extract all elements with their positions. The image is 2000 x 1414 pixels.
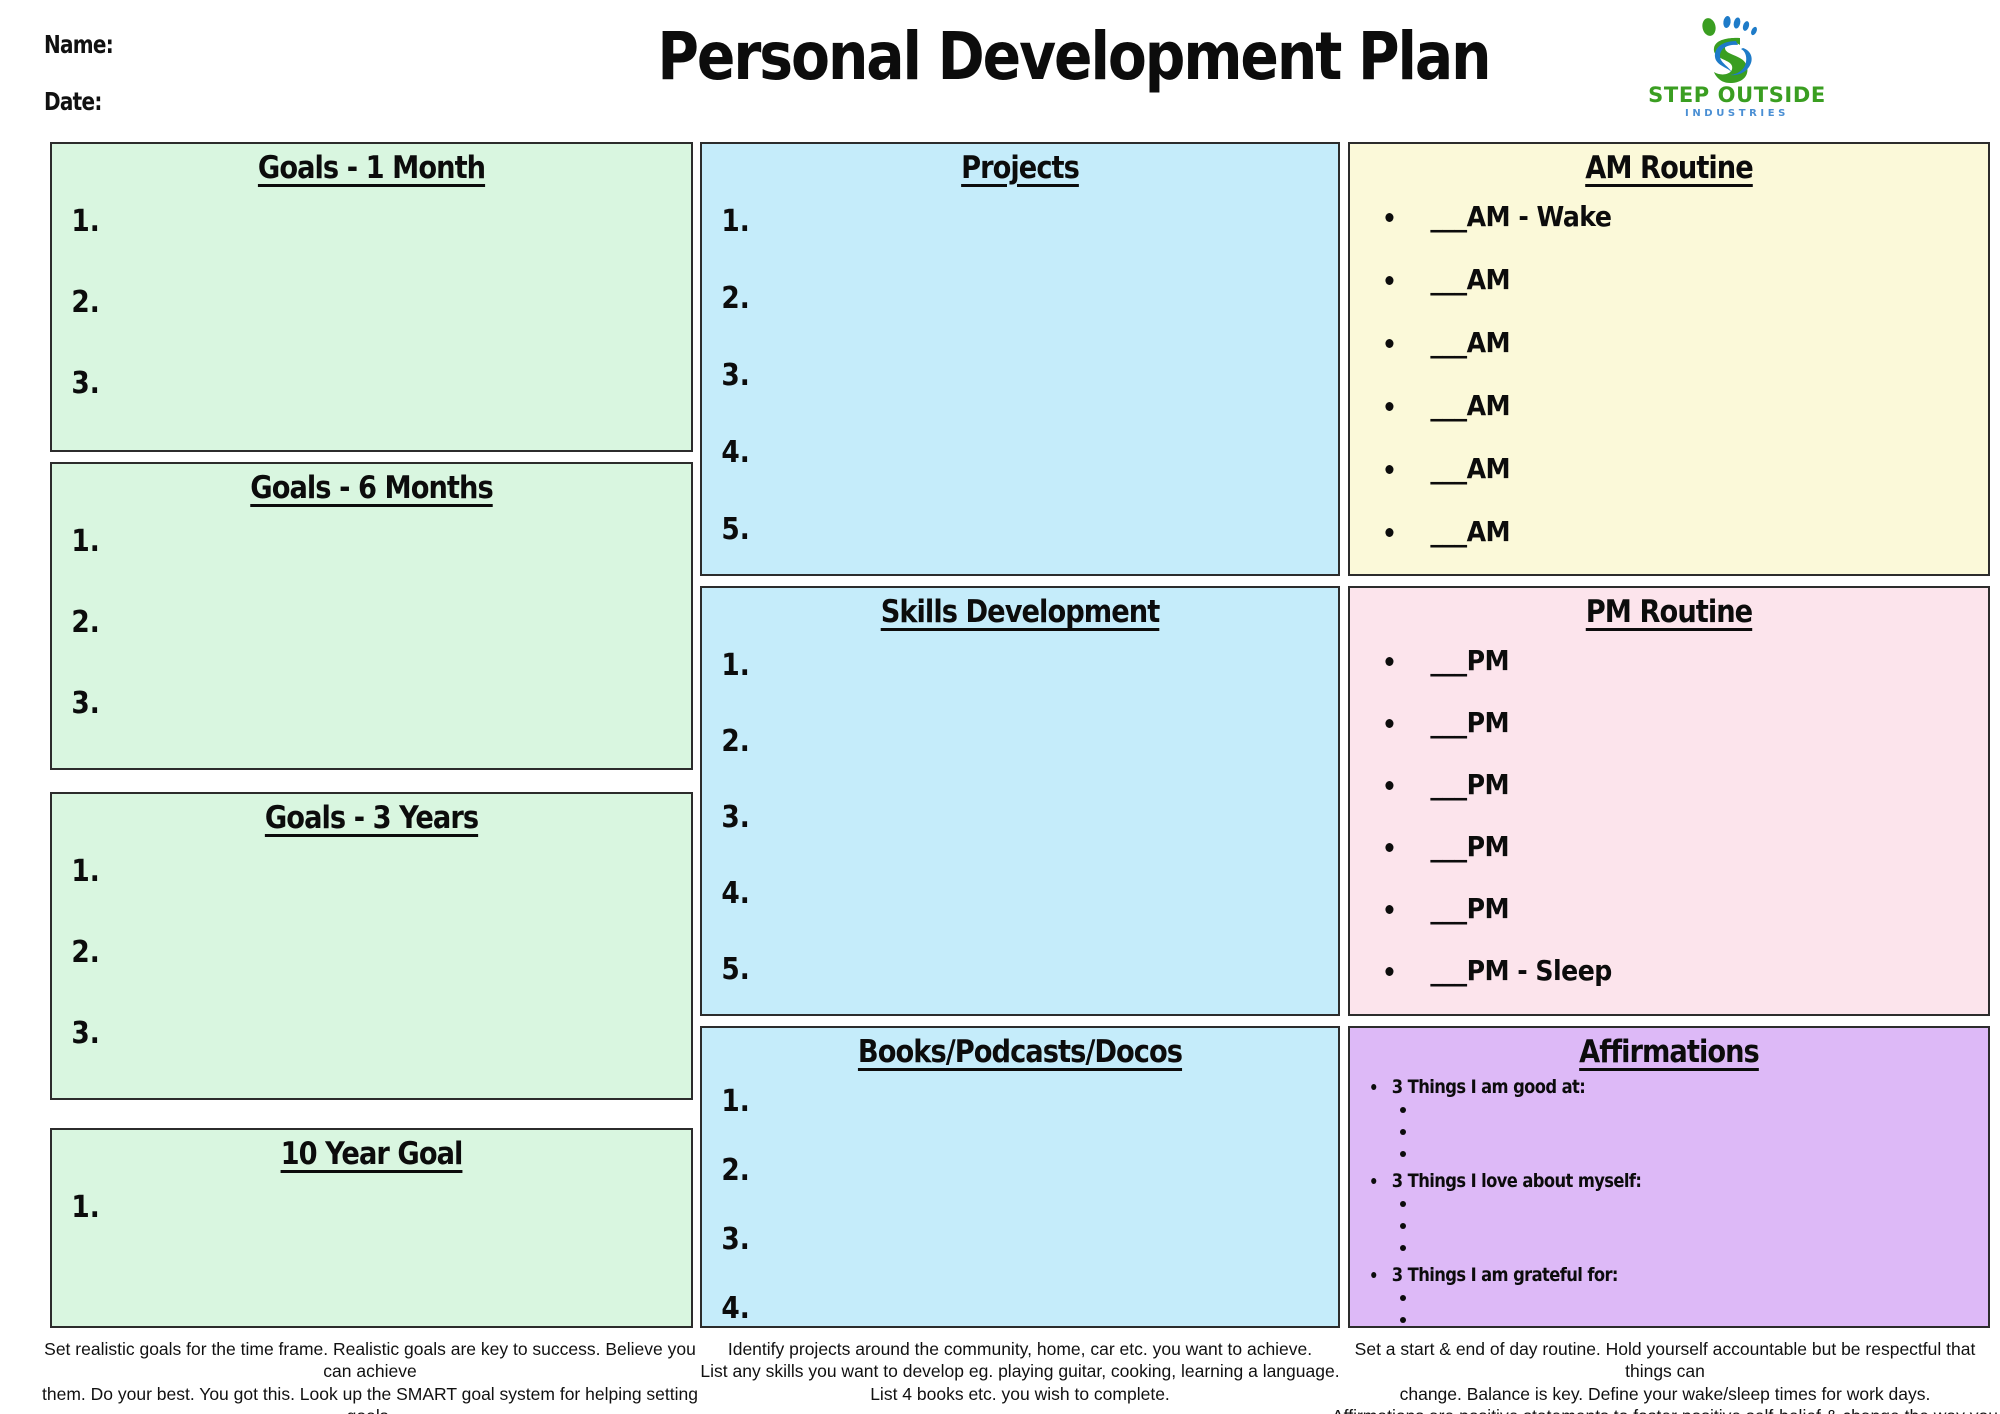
list-item[interactable]: ___PM <box>1380 830 1927 863</box>
panel-title-am-routine: AM Routine <box>1388 144 1949 186</box>
note-line: Set realistic goals for the time frame. … <box>34 1338 706 1383</box>
am-routine-list: ___AM - Wake ___AM ___AM ___AM ___AM ___… <box>1350 200 1988 548</box>
list-item[interactable]: ___AM <box>1380 515 1927 548</box>
list-item[interactable]: 3. <box>702 800 1262 835</box>
affirmations-list: 3 Things I am good at: 3 Things I love a… <box>1350 1076 1988 1328</box>
name-field-label[interactable]: Name: <box>44 30 380 59</box>
list-item[interactable]: 3. <box>52 366 614 401</box>
panel-title-10-year-goal: 10 Year Goal <box>90 1130 652 1172</box>
list-item[interactable]: 3. <box>702 1222 1262 1257</box>
logo-brand-name: STEP OUTSIDE <box>1612 84 1862 106</box>
list-item[interactable]: ___AM <box>1380 389 1927 422</box>
list-item[interactable]: 2. <box>702 1153 1262 1188</box>
list-item[interactable]: 4. <box>702 1291 1262 1326</box>
affirmation-blank[interactable] <box>1366 1098 1988 1120</box>
list-item[interactable]: 5. <box>702 952 1262 987</box>
list-item[interactable]: 1. <box>702 204 1262 239</box>
list-item[interactable]: ___PM <box>1380 706 1927 739</box>
list-item[interactable]: ___PM - Sleep <box>1380 954 1927 987</box>
logo-brand-sub: INDUSTRIES <box>1612 108 1862 119</box>
list-item[interactable]: 1. <box>52 524 614 559</box>
panel-goals-6-months: Goals - 6 Months 1. 2. 3. <box>50 462 693 770</box>
list-item[interactable]: 3. <box>52 1016 614 1051</box>
list-item[interactable]: ___PM <box>1380 768 1927 801</box>
page-header: Name: Date: Personal Development Plan <box>0 0 2000 132</box>
list-item[interactable]: 2. <box>702 281 1262 316</box>
list-item[interactable]: 1. <box>52 854 614 889</box>
panel-pm-routine: PM Routine ___PM ___PM ___PM ___PM ___PM… <box>1348 586 1990 1016</box>
note-line: them. Do your best. You got this. Look u… <box>34 1383 706 1414</box>
list-item[interactable]: 5. <box>702 512 1262 547</box>
projects-list: 1. 2. 3. 4. 5. <box>702 204 1338 547</box>
note-routines: Set a start & end of day routine. Hold y… <box>1330 1338 2000 1414</box>
date-field-label[interactable]: Date: <box>44 87 380 116</box>
list-item[interactable]: ___AM <box>1380 263 1927 296</box>
note-line: List any skills you want to develop eg. … <box>690 1360 1350 1382</box>
list-item[interactable]: 2. <box>52 605 614 640</box>
goal-10-year-list: 1. <box>52 1190 691 1225</box>
note-line: List 4 books etc. you wish to complete. <box>690 1383 1350 1405</box>
panel-books-podcasts-docos: Books/Podcasts/Docos 1. 2. 3. 4. <box>700 1026 1340 1328</box>
list-item[interactable]: 4. <box>702 876 1262 911</box>
list-item[interactable]: ___AM <box>1380 452 1927 485</box>
panel-title-pm-routine: PM Routine <box>1388 588 1949 630</box>
list-item[interactable]: 1. <box>52 204 614 239</box>
goals-3-years-list: 1. 2. 3. <box>52 854 691 1051</box>
panel-title-goals-3-years: Goals - 3 Years <box>90 794 652 836</box>
note-line: change. Balance is key. Define your wake… <box>1330 1383 2000 1405</box>
list-item[interactable]: 2. <box>52 285 614 320</box>
panel-skills-development: Skills Development 1. 2. 3. 4. 5. <box>700 586 1340 1016</box>
affirmation-blank[interactable] <box>1366 1120 1988 1142</box>
panel-affirmations: Affirmations 3 Things I am good at: 3 Th… <box>1348 1026 1990 1328</box>
list-item[interactable]: 1. <box>702 1084 1262 1119</box>
panel-title-affirmations: Affirmations <box>1388 1028 1949 1070</box>
list-item[interactable]: 1. <box>702 648 1262 683</box>
affirmation-blank[interactable] <box>1366 1286 1988 1308</box>
note-line: Identify projects around the community, … <box>690 1338 1350 1360</box>
panel-title-projects: Projects <box>740 144 1300 186</box>
list-item[interactable]: 4. <box>702 435 1262 470</box>
panel-title-books-podcasts-docos: Books/Podcasts/Docos <box>740 1028 1300 1070</box>
panel-10-year-goal: 10 Year Goal 1. <box>50 1128 693 1328</box>
affirmation-blank[interactable] <box>1366 1214 1988 1236</box>
footprint-s-logo-icon <box>1612 14 1862 84</box>
page-title: Personal Development Plan <box>657 18 1362 95</box>
panel-am-routine: AM Routine ___AM - Wake ___AM ___AM ___A… <box>1348 142 1990 576</box>
personal-development-plan-page: Name: Date: Personal Development Plan <box>0 0 2000 1414</box>
list-item[interactable]: 2. <box>702 724 1262 759</box>
books-podcasts-docos-list: 1. 2. 3. 4. <box>702 1084 1338 1326</box>
list-item[interactable]: 3. <box>702 358 1262 393</box>
panel-title-skills-development: Skills Development <box>740 588 1300 630</box>
affirmation-blank[interactable] <box>1366 1236 1988 1258</box>
skills-development-list: 1. 2. 3. 4. 5. <box>702 648 1338 987</box>
goals-1-month-list: 1. 2. 3. <box>52 204 691 401</box>
list-item[interactable]: ___PM <box>1380 892 1927 925</box>
affirmation-group-heading: 3 Things I am good at: <box>1366 1076 1901 1098</box>
panel-title-goals-6-months: Goals - 6 Months <box>90 464 652 506</box>
panel-title-goals-1-month: Goals - 1 Month <box>90 144 652 186</box>
note-line: Affirmations are positive statements to … <box>1330 1405 2000 1414</box>
list-item[interactable]: ___AM - Wake <box>1380 200 1927 233</box>
list-item[interactable]: ___AM <box>1380 326 1927 359</box>
goals-6-months-list: 1. 2. 3. <box>52 524 691 721</box>
list-item[interactable]: ___PM <box>1380 644 1927 677</box>
panel-projects: Projects 1. 2. 3. 4. 5. <box>700 142 1340 576</box>
list-item[interactable]: 1. <box>52 1190 614 1225</box>
brand-logo: STEP OUTSIDE INDUSTRIES <box>1612 14 1862 126</box>
note-projects: Identify projects around the community, … <box>690 1338 1350 1405</box>
affirmation-group-heading: 3 Things I am grateful for: <box>1366 1264 1901 1286</box>
panel-goals-1-month: Goals - 1 Month 1. 2. 3. <box>50 142 693 452</box>
list-item[interactable]: 3. <box>52 686 614 721</box>
pm-routine-list: ___PM ___PM ___PM ___PM ___PM ___PM - Sl… <box>1350 644 1988 987</box>
affirmation-blank[interactable] <box>1366 1142 1988 1164</box>
note-line: Set a start & end of day routine. Hold y… <box>1330 1338 2000 1383</box>
meta-fields: Name: Date: <box>44 30 464 144</box>
panel-goals-3-years: Goals - 3 Years 1. 2. 3. <box>50 792 693 1100</box>
affirmation-blank[interactable] <box>1366 1192 1988 1214</box>
affirmation-group-heading: 3 Things I love about myself: <box>1366 1170 1901 1192</box>
list-item[interactable]: 2. <box>52 935 614 970</box>
affirmation-blank[interactable] <box>1366 1308 1988 1328</box>
note-goals: Set realistic goals for the time frame. … <box>34 1338 706 1414</box>
